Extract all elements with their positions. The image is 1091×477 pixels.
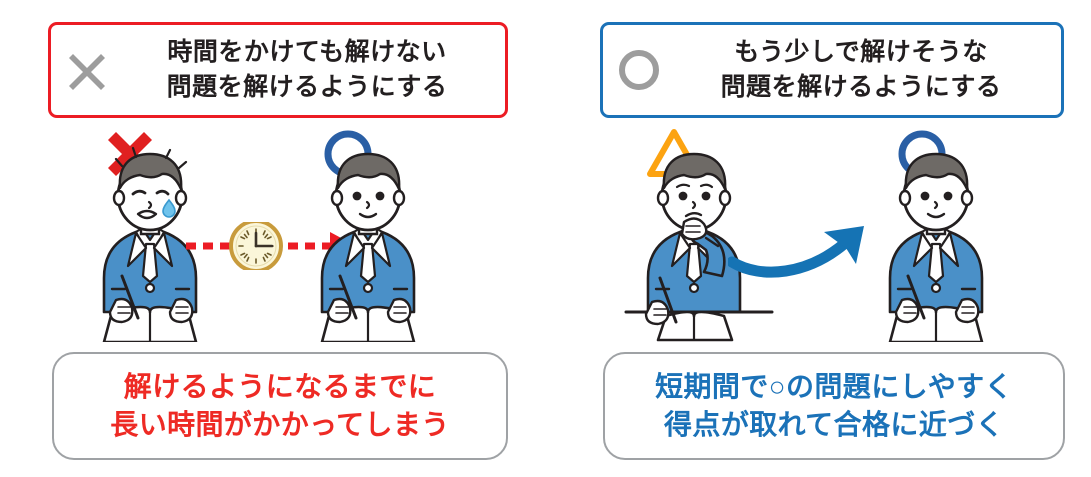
panel-bad-approach: 時間をかけても解けない 問題を解けるようにする	[0, 0, 546, 477]
result-line-2: 得点が取れて合格に近づく	[655, 406, 1013, 444]
result-text-left: 解けるようになるまでに 長い時間がかかってしまう	[110, 368, 449, 444]
scene-left	[0, 126, 546, 342]
header-line-2: 問題を解けるようにする	[675, 70, 1047, 106]
header-callout-right: もう少しで解けそうな 問題を解けるようにする	[600, 22, 1064, 118]
panel-good-approach: もう少しで解けそうな 問題を解けるようにする	[546, 0, 1091, 477]
confident-student-figure	[864, 126, 1034, 342]
cross-mark-icon	[51, 47, 123, 93]
clock-icon	[231, 222, 281, 270]
circle-mark-icon	[603, 47, 675, 93]
header-line-1: 時間をかけても解けない	[123, 35, 491, 71]
header-line-1: もう少しで解けそうな	[675, 35, 1047, 71]
scene-right	[546, 126, 1091, 342]
header-text-left: 時間をかけても解けない 問題を解けるようにする	[123, 35, 505, 106]
result-callout-left: 解けるようになるまでに 長い時間がかかってしまう	[52, 352, 508, 460]
header-callout-left: 時間をかけても解けない 問題を解けるようにする	[48, 22, 508, 118]
result-line-1: 短期間で○の問題にしやすく	[655, 368, 1013, 406]
result-callout-right: 短期間で○の問題にしやすく 得点が取れて合格に近づく	[603, 352, 1065, 460]
result-line-1: 解けるようになるまでに	[110, 368, 449, 406]
header-line-2: 問題を解けるようにする	[123, 70, 491, 106]
result-text-right: 短期間で○の問題にしやすく 得点が取れて合格に近づく	[655, 368, 1013, 444]
header-text-right: もう少しで解けそうな 問題を解けるようにする	[675, 35, 1061, 106]
confident-student-figure	[296, 126, 466, 342]
result-line-2: 長い時間がかかってしまう	[110, 406, 449, 444]
